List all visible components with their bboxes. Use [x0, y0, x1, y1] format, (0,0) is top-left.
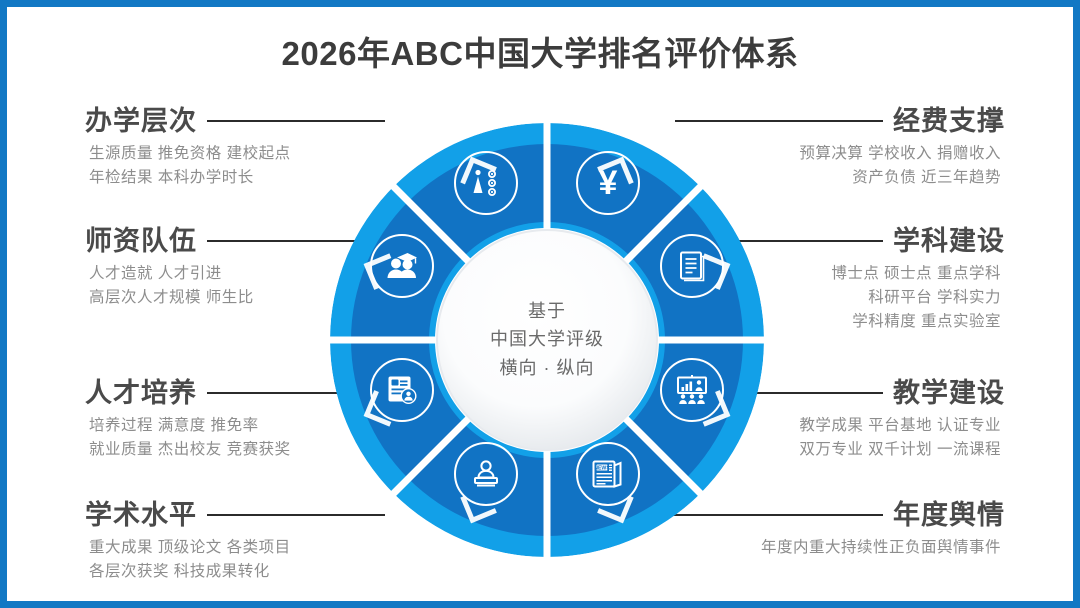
donut-hub	[437, 230, 657, 450]
yen-icon[interactable]: ¥	[576, 151, 640, 215]
category-title: 人才培养	[85, 379, 197, 407]
category-title: 经费支撑	[893, 107, 1005, 135]
news-icon[interactable]: NEWS	[576, 442, 640, 506]
category-item-line: 各层次获奖 科技成果转化	[89, 560, 385, 584]
page-title: 2026年ABC中国大学排名评价体系	[7, 27, 1073, 75]
slide-canvas: 2026年ABC中国大学排名评价体系 办学层次 生源质量 推免资格 建校起点 年…	[0, 0, 1080, 608]
document-person-icon[interactable]	[370, 358, 434, 422]
svg-text:NEWS: NEWS	[594, 466, 610, 472]
yen-glyph: ¥	[599, 166, 618, 200]
category-title: 学科建设	[893, 227, 1005, 255]
donut-svg	[324, 117, 770, 563]
category-title: 师资队伍	[85, 227, 197, 255]
hierarchy-icon[interactable]	[454, 151, 518, 215]
evaluation-donut-diagram: 基于 中国大学评级 横向 · 纵向 ¥	[324, 117, 770, 563]
category-title: 办学层次	[85, 107, 197, 135]
book-icon[interactable]	[660, 234, 724, 298]
presentation-icon[interactable]	[660, 358, 724, 422]
graduate-teacher-icon[interactable]	[370, 234, 434, 298]
category-title: 年度舆情	[893, 501, 1005, 529]
category-title: 学术水平	[85, 501, 197, 529]
category-title: 教学建设	[893, 379, 1005, 407]
stamp-icon[interactable]	[454, 442, 518, 506]
